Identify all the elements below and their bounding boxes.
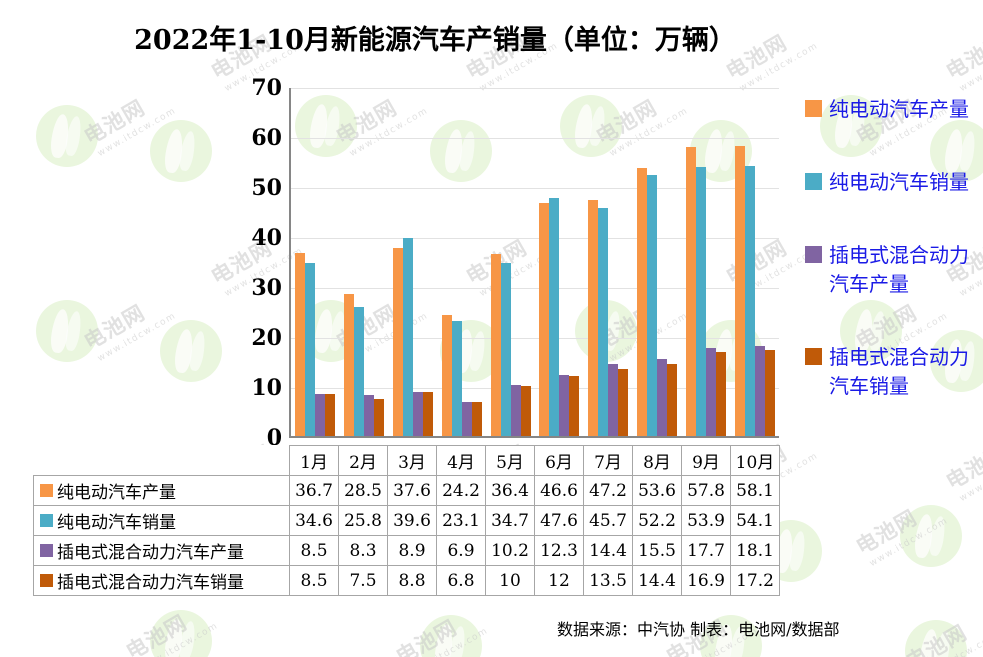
- plot-area: 706050403020100: [289, 88, 779, 438]
- y-tick-label: 50: [251, 175, 282, 201]
- table-cell: 16.9: [682, 566, 731, 596]
- bar-group: [535, 88, 584, 436]
- bar: [521, 386, 531, 436]
- chart-page: 电池网www.itdcw.com电池网www.itdcw.com电池网www.i…: [0, 0, 983, 657]
- legend-item-label: 插电式混合动力汽车产量: [829, 241, 980, 299]
- table-cell: 45.7: [584, 506, 633, 536]
- watermark-logo-icon: [900, 505, 962, 567]
- bar: [735, 146, 745, 437]
- table-corner-cell: [34, 446, 290, 476]
- table-cell: 37.6: [388, 476, 437, 506]
- bar: [491, 254, 501, 436]
- series-name-label: 插电式混合动力汽车产量: [57, 538, 244, 563]
- table-row-header: 纯电动汽车销量: [34, 506, 290, 536]
- bar: [442, 315, 452, 436]
- watermark-text: 电池网www.itdcw.com: [120, 594, 220, 657]
- data-table: 1月2月3月4月5月6月7月8月9月10月 纯电动汽车产量36.728.537.…: [33, 445, 780, 596]
- legend-swatch-icon: [805, 100, 822, 117]
- chart-title: 2022年1-10月新能源汽车产销量（单位：万辆）: [0, 18, 870, 57]
- table-cell: 39.6: [388, 506, 437, 536]
- chart-legend: 纯电动汽车产量纯电动汽车销量插电式混合动力汽车产量插电式混合动力汽车销量: [805, 95, 980, 445]
- table-column-header: 2月: [339, 446, 388, 476]
- legend-item[interactable]: 插电式混合动力汽车销量: [805, 343, 980, 401]
- table-column-header: 10月: [731, 446, 780, 476]
- table-cell: 17.2: [731, 566, 780, 596]
- y-tick-label: 30: [251, 275, 282, 301]
- bar-group: [730, 88, 779, 436]
- legend-item[interactable]: 纯电动汽车产量: [805, 95, 980, 124]
- watermark-text: 电池网www.itdcw.com: [78, 79, 178, 160]
- table-row: 纯电动汽车销量34.625.839.623.134.747.645.752.25…: [34, 506, 780, 536]
- bar: [423, 392, 433, 436]
- watermark-url-text: www.itdcw.com: [96, 106, 178, 159]
- bar: [539, 203, 549, 436]
- table-cell: 47.2: [584, 476, 633, 506]
- bar-group: [584, 88, 633, 436]
- legend-swatch-icon: [805, 348, 822, 365]
- bar: [745, 166, 755, 437]
- watermark-text: 电池网www.itdcw.com: [850, 489, 950, 570]
- table-cell: 18.1: [731, 536, 780, 566]
- table-column-header: 5月: [486, 446, 535, 476]
- legend-item-label: 纯电动汽车销量: [829, 168, 969, 197]
- table-cell: 7.5: [339, 566, 388, 596]
- bar: [472, 402, 482, 436]
- bar: [618, 369, 628, 437]
- series-swatch-icon: [40, 544, 53, 557]
- bar: [637, 168, 647, 436]
- watermark-logo-icon: [160, 320, 222, 382]
- table-column-header: 8月: [633, 446, 682, 476]
- table-cell: 53.9: [682, 506, 731, 536]
- table-cell: 10: [486, 566, 535, 596]
- bar: [452, 321, 462, 437]
- table-cell: 54.1: [731, 506, 780, 536]
- table-column-header: 4月: [437, 446, 486, 476]
- bar: [549, 198, 559, 436]
- bar: [413, 392, 423, 437]
- bar-group: [486, 88, 535, 436]
- table-column-header: 3月: [388, 446, 437, 476]
- bar: [295, 253, 305, 437]
- legend-swatch-icon: [805, 246, 822, 263]
- watermark-logo-icon: [150, 610, 212, 657]
- bar: [755, 346, 765, 437]
- bar: [559, 375, 569, 437]
- table-row: 插电式混合动力汽车销量8.57.58.86.8101213.514.416.91…: [34, 566, 780, 596]
- watermark-brand-text: 电池网: [78, 284, 173, 356]
- table-cell: 25.8: [339, 506, 388, 536]
- watermark-text: 电池网www.itdcw.com: [940, 14, 983, 95]
- table-cell: 53.6: [633, 476, 682, 506]
- table-cell: 57.8: [682, 476, 731, 506]
- watermark-url-text: www.itdcw.com: [96, 311, 178, 364]
- watermark-url-text: www.itdcw.com: [138, 621, 220, 657]
- bar-groups: [291, 88, 779, 436]
- y-tick-label: 60: [251, 125, 282, 151]
- bar-group: [681, 88, 730, 436]
- table-cell: 15.5: [633, 536, 682, 566]
- legend-item[interactable]: 插电式混合动力汽车产量: [805, 241, 980, 299]
- table-row-header: 插电式混合动力汽车产量: [34, 536, 290, 566]
- table-cell: 46.6: [535, 476, 584, 506]
- bar: [647, 175, 657, 436]
- bar-group: [437, 88, 486, 436]
- table-cell: 13.5: [584, 566, 633, 596]
- bar: [716, 352, 726, 437]
- bar: [667, 364, 677, 436]
- bar: [686, 147, 696, 436]
- bar-group: [389, 88, 438, 436]
- watermark-url-text: www.itdcw.com: [918, 631, 983, 657]
- table-header-row: 1月2月3月4月5月6月7月8月9月10月: [34, 446, 780, 476]
- bar: [511, 385, 521, 436]
- bar: [765, 350, 775, 436]
- series-swatch-icon: [40, 514, 53, 527]
- table-row: 纯电动汽车产量36.728.537.624.236.446.647.253.65…: [34, 476, 780, 506]
- table-row: 插电式混合动力汽车产量8.58.38.96.910.212.314.415.51…: [34, 536, 780, 566]
- bar: [657, 359, 667, 437]
- watermark-logo-icon: [905, 620, 967, 657]
- watermark-text: 电池网www.itdcw.com: [390, 599, 490, 657]
- bar: [315, 394, 325, 437]
- table-cell: 8.5: [290, 566, 339, 596]
- bar: [569, 376, 579, 436]
- watermark-brand-text: 电池网: [900, 604, 983, 657]
- bar: [325, 394, 335, 437]
- watermark-url-text: www.itdcw.com: [408, 626, 490, 657]
- bar-group: [340, 88, 389, 436]
- series-name-label: 纯电动汽车产量: [57, 478, 176, 503]
- watermark-logo-icon: [36, 105, 98, 167]
- watermark-url-text: www.itdcw.com: [958, 41, 983, 94]
- y-tick-label: 70: [251, 75, 282, 101]
- watermark-brand-text: 电池网: [78, 79, 173, 151]
- table-cell: 14.4: [584, 536, 633, 566]
- source-note: 数据来源：中汽协 制表：电池网/数据部: [557, 616, 839, 640]
- bar: [598, 208, 608, 437]
- watermark-logo-icon: [150, 120, 212, 182]
- watermark-brand-text: 电池网: [850, 489, 945, 561]
- table-cell: 6.9: [437, 536, 486, 566]
- table-cell: 28.5: [339, 476, 388, 506]
- series-name-label: 插电式混合动力汽车销量: [57, 568, 244, 593]
- bar: [696, 167, 706, 437]
- table-cell: 52.2: [633, 506, 682, 536]
- series-name-label: 纯电动汽车销量: [57, 508, 176, 533]
- table-cell: 8.8: [388, 566, 437, 596]
- bar: [354, 307, 364, 436]
- bar: [501, 263, 511, 437]
- table-column-header: 1月: [290, 446, 339, 476]
- table-row-header: 纯电动汽车产量: [34, 476, 290, 506]
- bar: [608, 364, 618, 436]
- series-swatch-icon: [40, 574, 53, 587]
- table-cell: 12: [535, 566, 584, 596]
- legend-item-label: 插电式混合动力汽车销量: [829, 343, 980, 401]
- table-cell: 24.2: [437, 476, 486, 506]
- y-tick-label: 10: [251, 375, 282, 401]
- y-tick-label: 20: [251, 325, 282, 351]
- table-column-header: 7月: [584, 446, 633, 476]
- bar-group: [291, 88, 340, 436]
- table-cell: 14.4: [633, 566, 682, 596]
- bar: [393, 248, 403, 436]
- table-cell: 8.9: [388, 536, 437, 566]
- table-cell: 8.3: [339, 536, 388, 566]
- watermark-text: 电池网www.itdcw.com: [78, 284, 178, 365]
- watermark-logo-icon: [36, 300, 98, 362]
- bar-group: [633, 88, 682, 436]
- bar: [344, 294, 354, 437]
- watermark-brand-text: 电池网: [940, 14, 983, 86]
- table-column-header: 6月: [535, 446, 584, 476]
- bar: [305, 263, 315, 436]
- table-cell: 47.6: [535, 506, 584, 536]
- y-tick-label: 40: [251, 225, 282, 251]
- watermark-url-text: www.itdcw.com: [868, 516, 950, 569]
- table-cell: 34.6: [290, 506, 339, 536]
- table-cell: 58.1: [731, 476, 780, 506]
- plot-axes: 706050403020100: [289, 88, 779, 438]
- watermark-url-text: www.itdcw.com: [958, 451, 983, 504]
- bar: [364, 395, 374, 437]
- table-cell: 34.7: [486, 506, 535, 536]
- table-cell: 23.1: [437, 506, 486, 536]
- table-cell: 8.5: [290, 536, 339, 566]
- table-column-header: 9月: [682, 446, 731, 476]
- series-swatch-icon: [40, 484, 53, 497]
- table-row-header: 插电式混合动力汽车销量: [34, 566, 290, 596]
- bar: [374, 399, 384, 437]
- table-cell: 6.8: [437, 566, 486, 596]
- legend-swatch-icon: [805, 173, 822, 190]
- bar: [403, 238, 413, 436]
- watermark-logo-icon: [420, 615, 482, 657]
- table-cell: 10.2: [486, 536, 535, 566]
- bar: [462, 402, 472, 437]
- table-cell: 36.7: [290, 476, 339, 506]
- bar: [588, 200, 598, 436]
- watermark-brand-text: 电池网: [120, 594, 215, 657]
- watermark-brand-text: 电池网: [390, 599, 485, 657]
- table-cell: 36.4: [486, 476, 535, 506]
- bar: [706, 348, 716, 437]
- table-cell: 12.3: [535, 536, 584, 566]
- legend-item-label: 纯电动汽车产量: [829, 95, 969, 124]
- table-cell: 17.7: [682, 536, 731, 566]
- legend-item[interactable]: 纯电动汽车销量: [805, 168, 980, 197]
- watermark-text: 电池网www.itdcw.com: [900, 604, 983, 657]
